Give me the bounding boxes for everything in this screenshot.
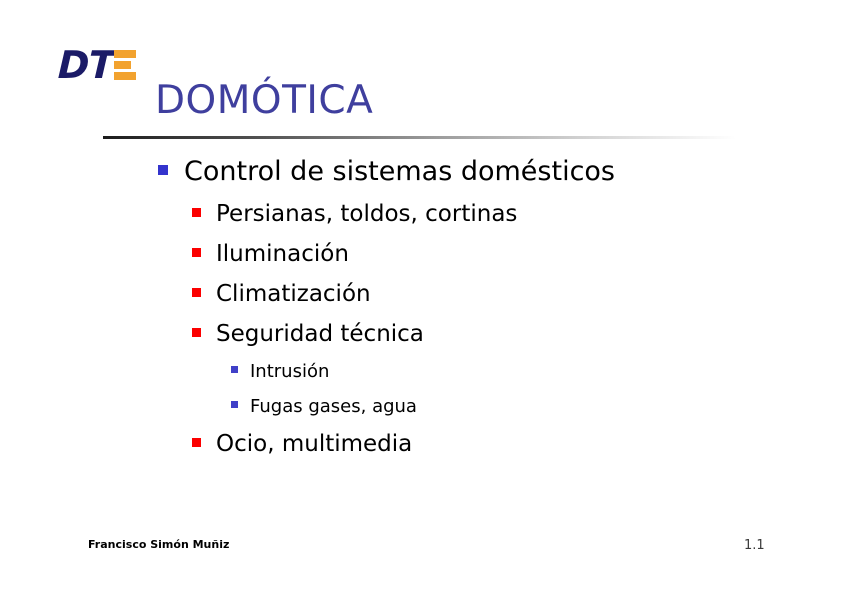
bullet-square-icon	[158, 165, 168, 175]
footer-author: Francisco Simón Muñiz	[88, 538, 229, 551]
outline-item-level3: Fugas gases, agua	[231, 389, 848, 424]
outline-item-label: Intrusión	[250, 354, 329, 389]
outline-item-label: Control de sistemas domésticos	[184, 152, 615, 192]
presentation-slide: DT DOMÓTICA Control de sistemas doméstic…	[0, 0, 848, 599]
outline-item-level2: Seguridad técnica	[192, 314, 848, 354]
outline-item-label: Seguridad técnica	[216, 314, 424, 354]
outline-item-level2: Iluminación	[192, 234, 848, 274]
outline-item-level2: Persianas, toldos, cortinas	[192, 194, 848, 234]
bullet-square-icon	[192, 248, 201, 257]
bullet-square-icon	[192, 328, 201, 337]
page-title: DOMÓTICA	[155, 79, 373, 123]
bullet-square-icon	[192, 438, 201, 447]
logo-e-bars-icon	[114, 50, 136, 84]
outline-item-level3: Intrusión	[231, 354, 848, 389]
slide-header: DT DOMÓTICA	[0, 0, 848, 145]
header-divider	[103, 136, 736, 139]
bullet-square-icon	[231, 401, 238, 408]
outline-item-label: Persianas, toldos, cortinas	[216, 194, 517, 234]
outline-item-label: Fugas gases, agua	[250, 389, 417, 424]
outline-item-label: Iluminación	[216, 234, 349, 274]
outline-item-level2: Climatización	[192, 274, 848, 314]
dte-logo: DT	[58, 46, 146, 88]
bullet-square-icon	[231, 366, 238, 373]
bullet-square-icon	[192, 208, 201, 217]
logo-e-bar-bottom	[114, 72, 136, 80]
slide-content-outline: Control de sistemas domésticos Persianas…	[0, 152, 848, 464]
outline-item-level1: Control de sistemas domésticos	[158, 152, 848, 192]
logo-e-bar-top	[114, 50, 136, 58]
logo-text-dt: DT	[57, 46, 114, 84]
footer-page-number: 1.1	[744, 538, 765, 553]
bullet-square-icon	[192, 288, 201, 297]
outline-item-label: Climatización	[216, 274, 371, 314]
outline-item-label: Ocio, multimedia	[216, 424, 412, 464]
logo-e-bar-middle	[114, 61, 131, 69]
outline-item-level2: Ocio, multimedia	[192, 424, 848, 464]
